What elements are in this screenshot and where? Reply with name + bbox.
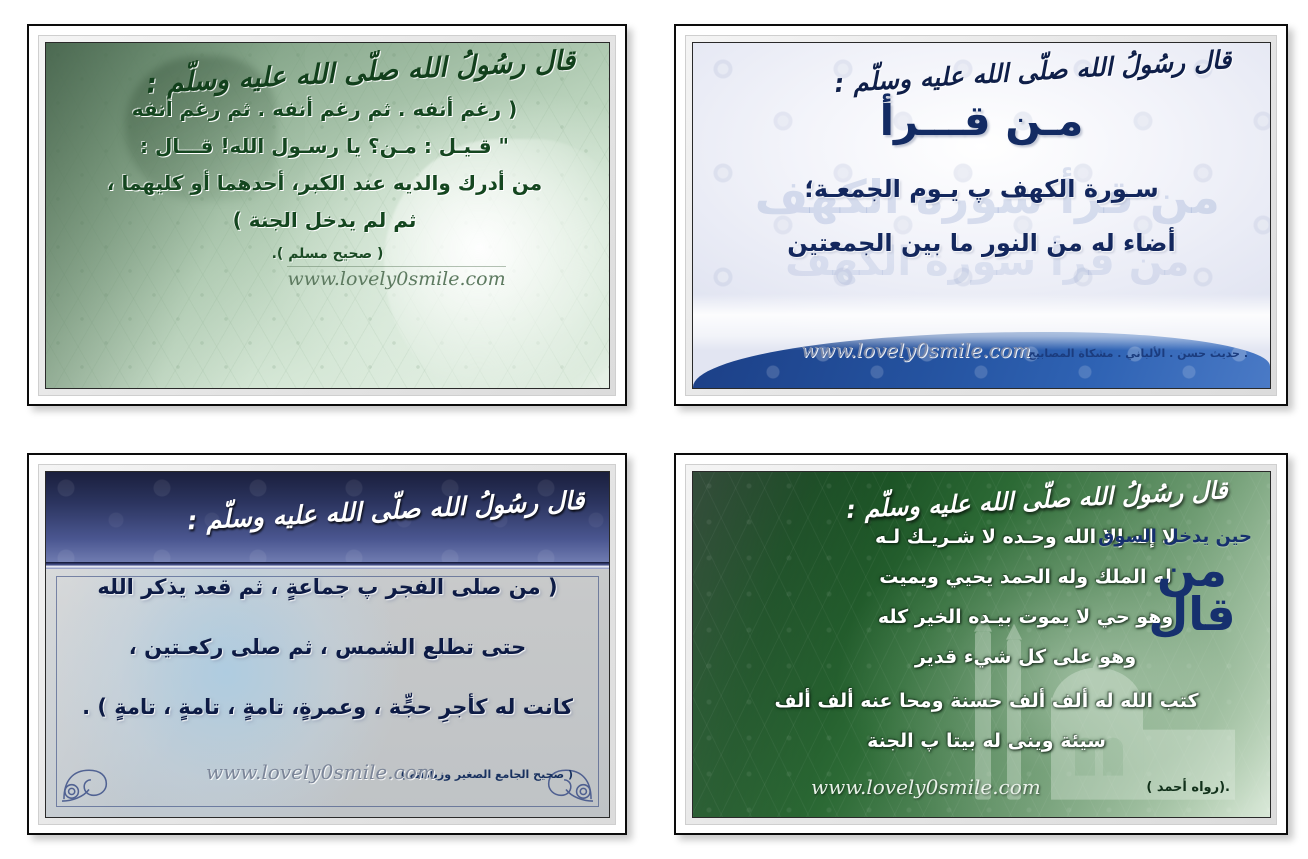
hadith-line-4: وهو على كل شيء قدير xyxy=(915,646,1136,668)
card-header-prophet-said: قال رسُولُ الله صلّى الله عليه وسلّم : xyxy=(145,47,575,98)
hadith-line-3: كانت له كأجرِ حجٍّة ، وعمرةٍ، تامةٍ ، تا… xyxy=(82,695,573,719)
picture-frame-bottom-left: قال رسُولُ الله صلّى الله عليه وسلّم : (… xyxy=(27,453,627,835)
frame-mat: من قرأ سورة الكهف من قرأ سورة الكهف قال … xyxy=(685,35,1277,396)
hadith-card-bottom-left[interactable]: قال رسُولُ الله صلّى الله عليه وسلّم : (… xyxy=(45,471,610,818)
side-calligraphy-block: حين يدخل السوق من قال xyxy=(1132,526,1252,636)
card-header-prophet-said: قال رسُولُ الله صلّى الله عليه وسلّم : xyxy=(187,488,585,534)
frame-mat: قال رسُولُ الله صلّى الله عليه وسلّم : (… xyxy=(38,464,616,825)
hadith-line-3: من أدرك والديه عند الكبر، أحدهما أو كليه… xyxy=(107,173,542,193)
hadith-card-top-left[interactable]: قال رسُولُ الله صلّى الله عليه وسلّم : (… xyxy=(45,42,610,389)
card-grid: قال رسُولُ الله صلّى الله عليه وسلّم : (… xyxy=(0,0,1308,859)
website-watermark[interactable]: www.lovely0smile.com xyxy=(206,760,436,784)
frame-mat: قال رسُولُ الله صلّى الله عليه وسلّم : (… xyxy=(38,35,616,396)
hadith-source-attribution: ( صحيح مسلم ). xyxy=(272,246,384,262)
hadith-card-bottom-right[interactable]: حين يدخل السوق من قال قال رسُولُ الله صل… xyxy=(692,471,1271,818)
hadith-headline: مـن قـــرأ xyxy=(880,96,1084,145)
website-watermark[interactable]: www.lovely0smile.com xyxy=(811,775,1041,799)
picture-frame-top-right: من قرأ سورة الكهف من قرأ سورة الكهف قال … xyxy=(674,24,1288,406)
card-header-prophet-said: قال رسُولُ الله صلّى الله عليه وسلّم : xyxy=(834,46,1232,95)
card-slot-top-left: قال رسُولُ الله صلّى الله عليه وسلّم : (… xyxy=(0,0,654,429)
hadith-line-1: سـورة الكهف ﭖ يـوم الجمعـة؛ xyxy=(804,175,1158,203)
hadith-line-3: وهو حي لا يموت بيـده الخير كله xyxy=(878,606,1173,628)
picture-frame-top-left: قال رسُولُ الله صلّى الله عليه وسلّم : (… xyxy=(27,24,627,406)
hadith-line-1: ( رغم أنفه . ثم رغم أنفه . ثم رغم أنفه xyxy=(132,99,518,119)
card-slot-bottom-left: قال رسُولُ الله صلّى الله عليه وسلّم : (… xyxy=(0,429,654,859)
hadith-line-2: أضاء له من النور ما بين الجمعتين xyxy=(787,229,1175,257)
hadith-source-attribution: ( حديث حسن . الألباني . مشكاة المصابيح . xyxy=(1019,347,1248,360)
frame-mat: حين يدخل السوق من قال قال رسُولُ الله صل… xyxy=(685,464,1277,825)
website-watermark[interactable]: www.lovely0smile.com xyxy=(801,338,1031,362)
hadith-line-2: له الملك وله الحمد يحيي ويميت xyxy=(879,566,1171,588)
side-word-qala: قال xyxy=(1132,593,1252,637)
hadith-card-top-right[interactable]: من قرأ سورة الكهف من قرأ سورة الكهف قال … xyxy=(692,42,1271,389)
hadith-line-1: ( من صلى الفجر ﭖ جماعةٍ ، ثم قعد يذكر ال… xyxy=(97,575,557,599)
website-watermark[interactable]: www.lovely0smile.com xyxy=(287,266,505,290)
card-slot-top-right: من قرأ سورة الكهف من قرأ سورة الكهف قال … xyxy=(654,0,1308,429)
hadith-line-5: كتب الله له ألف ألف حسنة ومحا عنه ألف أل… xyxy=(774,690,1198,712)
hadith-line-4: ثم لم يدخل الجنة ) xyxy=(233,210,417,230)
hadith-line-2: حتى تطلع الشمس ، ثم صلى ركعـتين ، xyxy=(129,635,526,659)
hadith-line-2: " قـيـل : مـن؟ يا رسـول الله! قـــال : xyxy=(140,136,509,156)
card-slot-bottom-right: حين يدخل السوق من قال قال رسُولُ الله صل… xyxy=(654,429,1308,859)
hadith-source-attribution: ( رواه أحمد). xyxy=(1146,780,1230,795)
picture-frame-bottom-right: حين يدخل السوق من قال قال رسُولُ الله صل… xyxy=(674,453,1288,835)
card-header-prophet-said: قال رسُولُ الله صلّى الله عليه وسلّم : xyxy=(846,478,1228,522)
hadith-line-6: سيئة وينى له بيتا ﭖ الجنة xyxy=(867,730,1106,752)
